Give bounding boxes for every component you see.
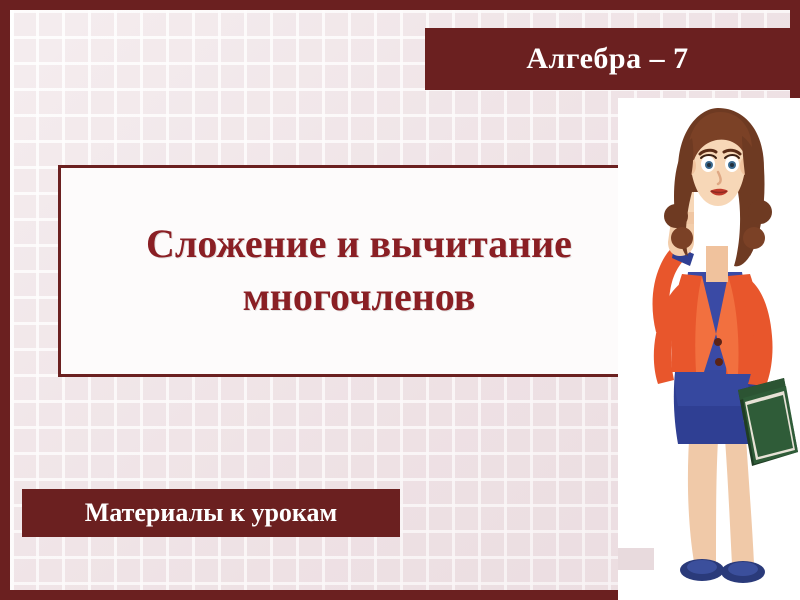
slide-canvas: Алгебра – 7 Сложение и вычитание многочл…: [0, 0, 800, 600]
page-title-line-1: Сложение и вычитание: [146, 221, 572, 266]
subject-banner: Алгебра – 7: [425, 28, 790, 90]
title-box: Сложение и вычитание многочленов: [58, 165, 660, 377]
page-title: Сложение и вычитание многочленов: [146, 218, 572, 324]
page-title-line-2: многочленов: [243, 274, 476, 319]
subject-banner-label: Алгебра – 7: [526, 42, 688, 76]
teacher-illustration: [612, 96, 800, 596]
materials-banner-label: Материалы к урокам: [85, 498, 337, 528]
materials-banner: Материалы к урокам: [22, 489, 400, 537]
